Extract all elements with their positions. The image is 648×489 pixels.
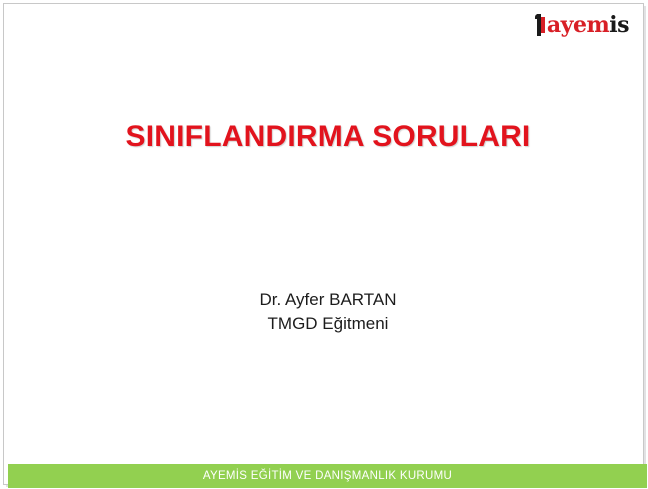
logo-text-black: is: [609, 14, 629, 36]
footer-bar: AYEMİS EĞİTİM VE DANIŞMANLIK KURUMU: [8, 464, 647, 488]
footer-text: AYEMİS EĞİTİM VE DANIŞMANLIK KURUMU: [203, 470, 452, 482]
slide-title: SINIFLANDIRMA SORULARI: [4, 120, 648, 154]
author-role: TMGD Eğitmeni: [4, 312, 648, 336]
ayemis-logo-mark-icon: [535, 14, 546, 36]
author-name: Dr. Ayfer BARTAN: [4, 288, 648, 312]
slide-page-frame: ayemis SINIFLANDIRMA SORULARI Dr. Ayfer …: [3, 3, 644, 485]
slide-subtitle: Dr. Ayfer BARTAN TMGD Eğitmeni: [4, 288, 648, 336]
page-right-shadow: [644, 6, 646, 486]
ayemis-logo: ayemis: [535, 10, 629, 40]
logo-text-red: ayem: [547, 14, 609, 36]
presentation-slide: ayemis SINIFLANDIRMA SORULARI Dr. Ayfer …: [0, 0, 648, 489]
